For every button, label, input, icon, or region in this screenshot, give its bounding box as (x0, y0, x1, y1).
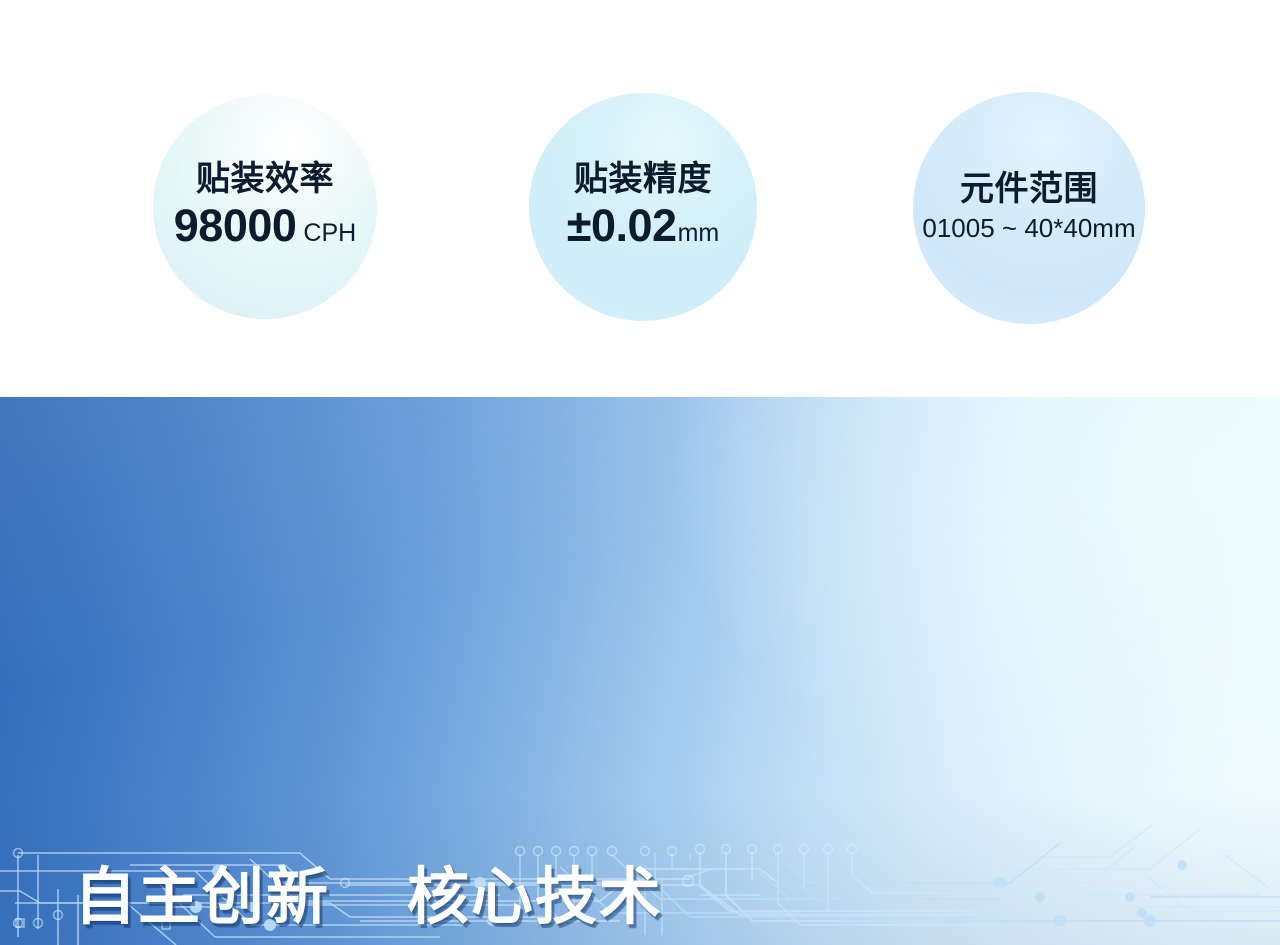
page-title: 自主创新 核心技术 (74, 867, 663, 929)
stat-bubble-placement-efficiency: 贴装效率 98000 CPH (153, 95, 377, 319)
stat-value: ±0.02 mm (567, 200, 719, 252)
stat-label: 贴装效率 (196, 162, 334, 198)
stats-section: 贴装效率 98000 CPH 贴装精度 ±0.02 mm 元件范围 01005 … (0, 0, 1280, 397)
stat-number: ±0.02 (567, 200, 677, 252)
stat-range: 01005 ~ 40*40mm (922, 213, 1135, 244)
features-panel: 自主创新 核心技术 X、Y、Z三轴均采用自主研发高端磁悬浮电机驱动 Y轴采用双驱… (0, 397, 1280, 945)
stat-label: 元件范围 (960, 172, 1098, 208)
stat-bubble-component-range: 元件范围 01005 ~ 40*40mm (913, 92, 1145, 324)
stat-unit: CPH (303, 219, 356, 248)
stat-unit: mm (678, 219, 720, 248)
stat-label: 贴装精度 (574, 162, 712, 198)
stat-number: 98000 (174, 200, 297, 252)
stat-bubble-placement-accuracy: 贴装精度 ±0.02 mm (529, 93, 757, 321)
slide-root: 贴装效率 98000 CPH 贴装精度 ±0.02 mm 元件范围 01005 … (0, 0, 1280, 945)
stat-value: 98000 CPH (174, 200, 356, 252)
